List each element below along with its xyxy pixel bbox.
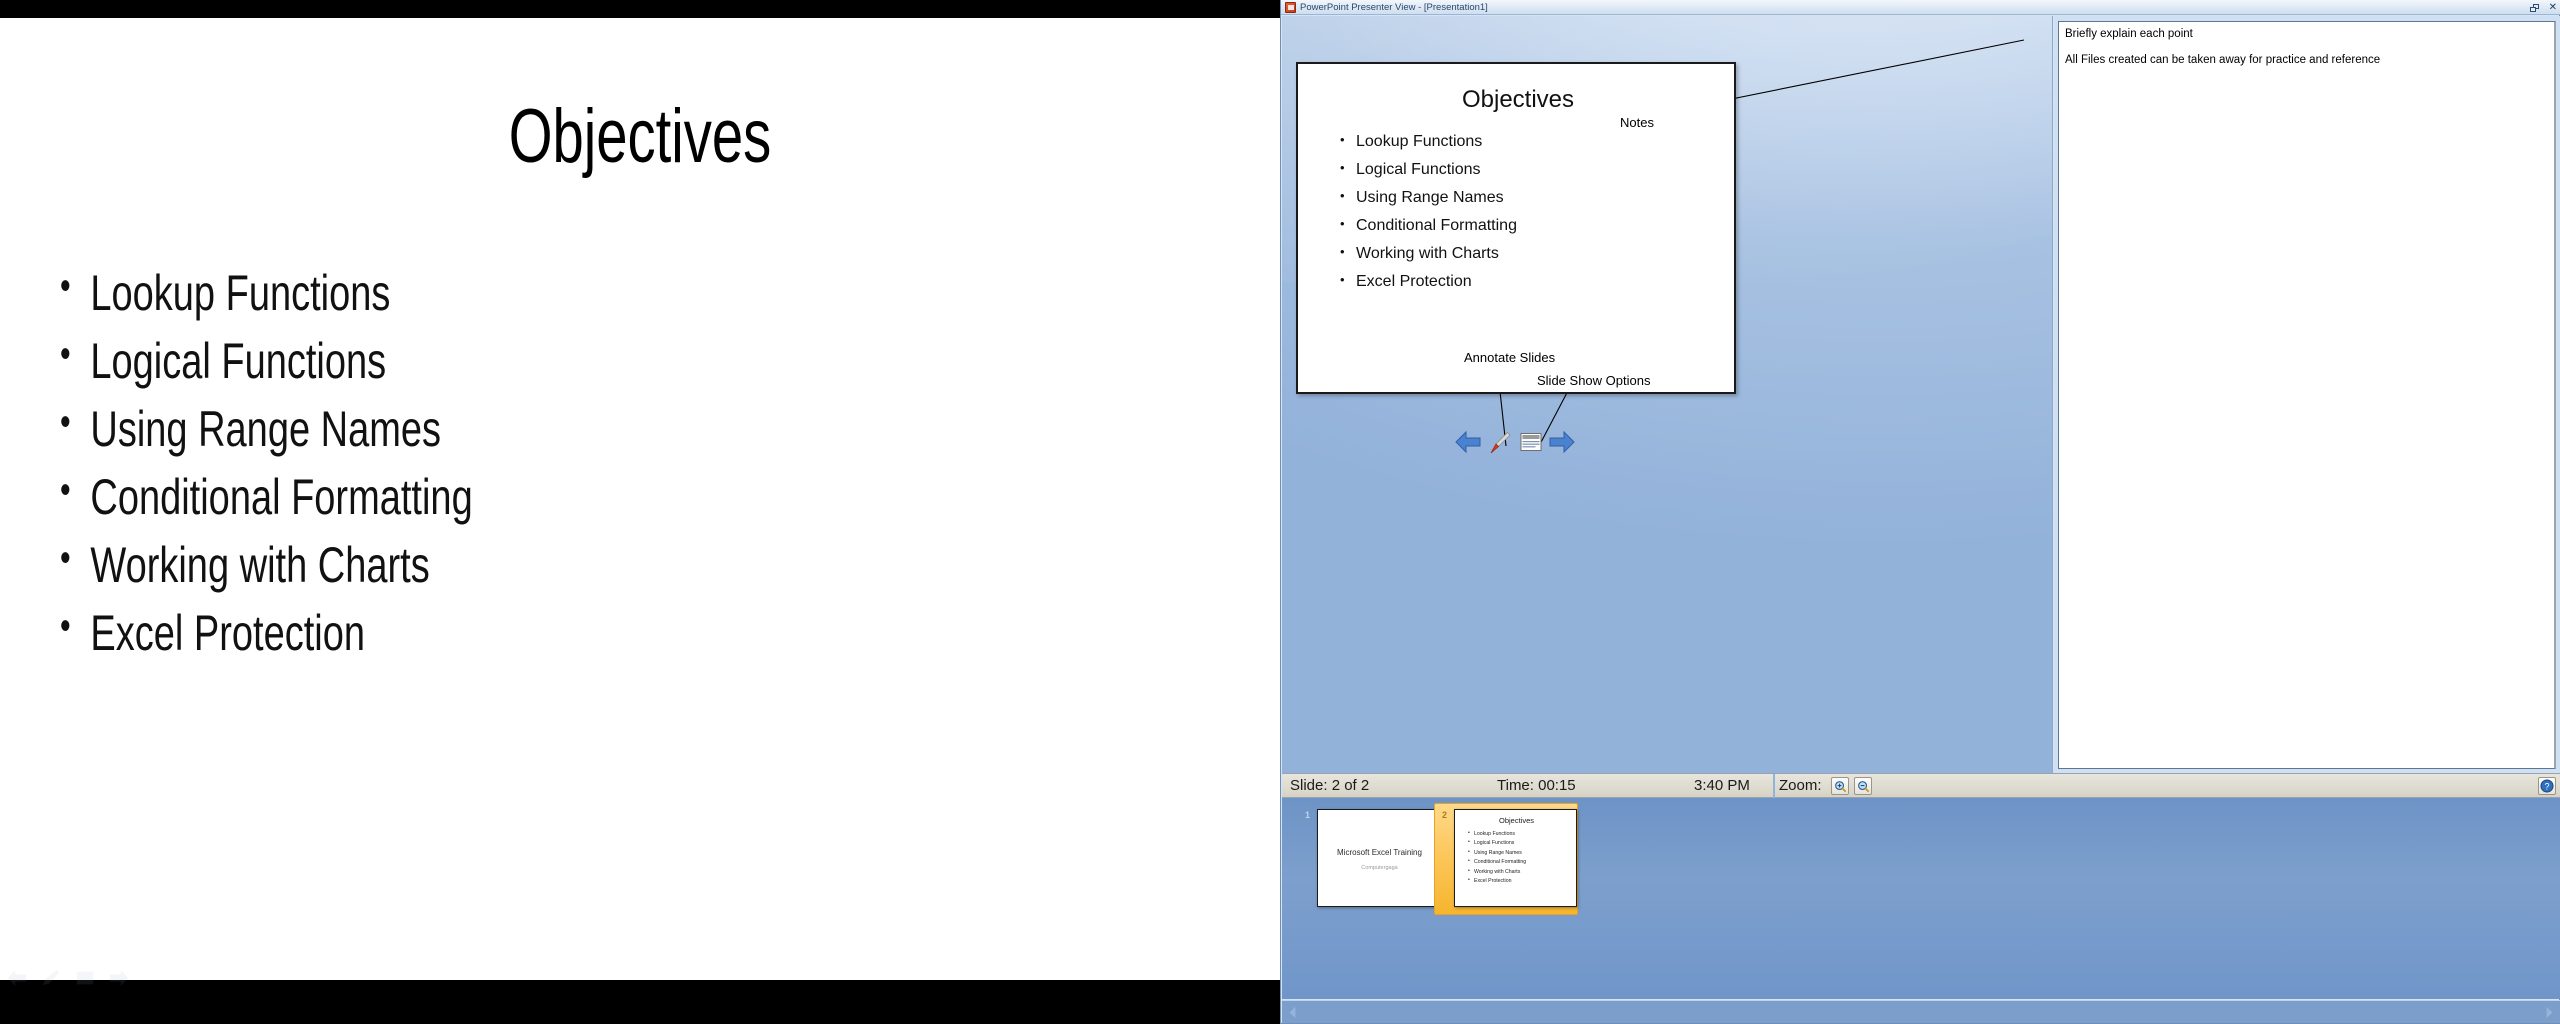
thumbnail-horizontal-scrollbar[interactable] — [1282, 1000, 2560, 1023]
preview-bullet: Using Range Names — [1340, 190, 1517, 206]
slide-title: Objectives — [166, 93, 1113, 180]
slide-bullet: Logical Functions — [60, 336, 911, 386]
zoom-in-button[interactable] — [1831, 777, 1849, 795]
help-button[interactable]: ? — [2538, 777, 2556, 795]
zoom-out-button[interactable] — [1854, 777, 1872, 795]
current-slide-preview-pane: Objectives Lookup Functions Logical Func… — [1282, 16, 2053, 773]
zoom-label: Zoom: — [1779, 777, 1822, 794]
preview-bullet: Working with Charts — [1340, 246, 1517, 262]
note-line: Briefly explain each point — [2065, 27, 2548, 43]
preview-bullet: Lookup Functions — [1340, 134, 1517, 150]
thumbnail-bullet: Using Range Names — [1468, 851, 1526, 856]
next-slide-arrow-icon[interactable] — [108, 968, 130, 988]
previous-slide-arrow-icon[interactable] — [1455, 429, 1481, 455]
slide-bullet-list: Lookup Functions Logical Functions Using… — [60, 268, 1180, 676]
thumbnail-bullet: Excel Protection — [1468, 879, 1526, 884]
powerpoint-icon — [1285, 2, 1296, 13]
thumbnail-page: Microsoft Excel Training Computergaga — [1317, 809, 1440, 907]
previous-slide-arrow-icon[interactable] — [6, 968, 28, 988]
elapsed-timer: Time: 00:15 — [1497, 777, 1576, 794]
next-slide-arrow-icon[interactable] — [1549, 429, 1575, 455]
preview-slide: Objectives Lookup Functions Logical Func… — [1296, 62, 1736, 394]
thumbnail-bullet: Working with Charts — [1468, 870, 1526, 875]
status-bar: Slide: 2 of 2 Time: 00:15 3:40 PM Zoom: — [1282, 773, 2560, 798]
slide-bullet: Excel Protection — [60, 608, 911, 658]
scroll-right-icon[interactable] — [2541, 1004, 2558, 1021]
slide-show-display[interactable]: Objectives Lookup Functions Logical Func… — [0, 0, 1280, 1024]
window-title: PowerPoint Presenter View - [Presentatio… — [1300, 2, 1488, 13]
thumbnail-slide-2[interactable]: 2 Objectives Lookup Functions Logical Fu… — [1434, 803, 1578, 915]
thumbnail-number: 1 — [1305, 810, 1310, 820]
zoom-in-icon — [1834, 780, 1847, 793]
scroll-left-icon[interactable] — [1284, 1004, 1301, 1021]
callout-notes: Notes — [1620, 115, 1654, 130]
note-spacer — [2065, 43, 2548, 53]
slide-show-options-menu-icon[interactable] — [74, 968, 96, 988]
window-controls[interactable]: ✕ — [2530, 0, 2557, 15]
restore-window-icon[interactable] — [2530, 4, 2539, 12]
thumbnail-subtitle: Computergaga — [1318, 865, 1441, 871]
slide-show-options-menu-icon[interactable] — [1518, 429, 1544, 455]
notes-text-area[interactable]: Briefly explain each point All Files cre… — [2058, 21, 2556, 769]
slide-bullet: Working with Charts — [60, 540, 911, 590]
thumbnail-title: Microsoft Excel Training — [1318, 848, 1441, 857]
slide-bullet: Using Range Names — [60, 404, 911, 454]
presenter-nav-toolbar[interactable] — [1455, 425, 1575, 459]
preview-bullet: Logical Functions — [1340, 162, 1517, 178]
zoom-out-icon — [1857, 780, 1870, 793]
title-bar[interactable]: PowerPoint Presenter View - [Presentatio… — [1281, 0, 2560, 15]
preview-slide-title: Objectives — [1298, 86, 1738, 114]
close-window-icon[interactable]: ✕ — [2549, 3, 2557, 13]
status-divider — [1773, 774, 1775, 799]
help-icon: ? — [2540, 779, 2554, 793]
thumbnail-page: Objectives Lookup Functions Logical Func… — [1454, 809, 1577, 907]
thumbnail-bullet: Conditional Formatting — [1468, 860, 1526, 865]
thumbnail-slide-1[interactable]: 1 Microsoft Excel Training Computergaga — [1298, 804, 1442, 914]
callout-slide-show-options: Slide Show Options — [1537, 373, 1650, 388]
powerpoint-presenter-view-window: PowerPoint Presenter View - [Presentatio… — [1280, 0, 2560, 1024]
slide-counter: Slide: 2 of 2 — [1290, 777, 1369, 794]
pen-annotate-icon[interactable] — [1486, 429, 1512, 455]
speaker-notes-pane: Briefly explain each point All Files cre… — [2054, 16, 2560, 773]
thumbnail-bullet: Lookup Functions — [1468, 832, 1526, 837]
preview-bullet: Excel Protection — [1340, 274, 1517, 290]
clock: 3:40 PM — [1694, 777, 1750, 794]
slideshow-control-bar[interactable] — [6, 962, 146, 994]
svg-text:?: ? — [2544, 782, 2549, 792]
callout-annotate-slides: Annotate Slides — [1464, 350, 1555, 365]
note-line: All Files created can be taken away for … — [2065, 53, 2548, 69]
pen-annotate-icon[interactable] — [40, 968, 62, 988]
slide-bullet: Conditional Formatting — [60, 472, 911, 522]
thumbnail-bullet-list: Lookup Functions Logical Functions Using… — [1468, 832, 1526, 888]
preview-bullet: Conditional Formatting — [1340, 218, 1517, 234]
screen: Objectives Lookup Functions Logical Func… — [0, 0, 2560, 1024]
slide-canvas: Objectives Lookup Functions Logical Func… — [0, 18, 1280, 980]
thumbnail-title: Objectives — [1455, 816, 1578, 825]
preview-bullet-list: Lookup Functions Logical Functions Using… — [1340, 134, 1517, 302]
slide-thumbnail-strip[interactable]: 1 Microsoft Excel Training Computergaga … — [1282, 798, 2560, 999]
slide-bullet: Lookup Functions — [60, 268, 911, 318]
thumbnail-bullet: Logical Functions — [1468, 841, 1526, 846]
thumbnail-number: 2 — [1442, 810, 1447, 820]
